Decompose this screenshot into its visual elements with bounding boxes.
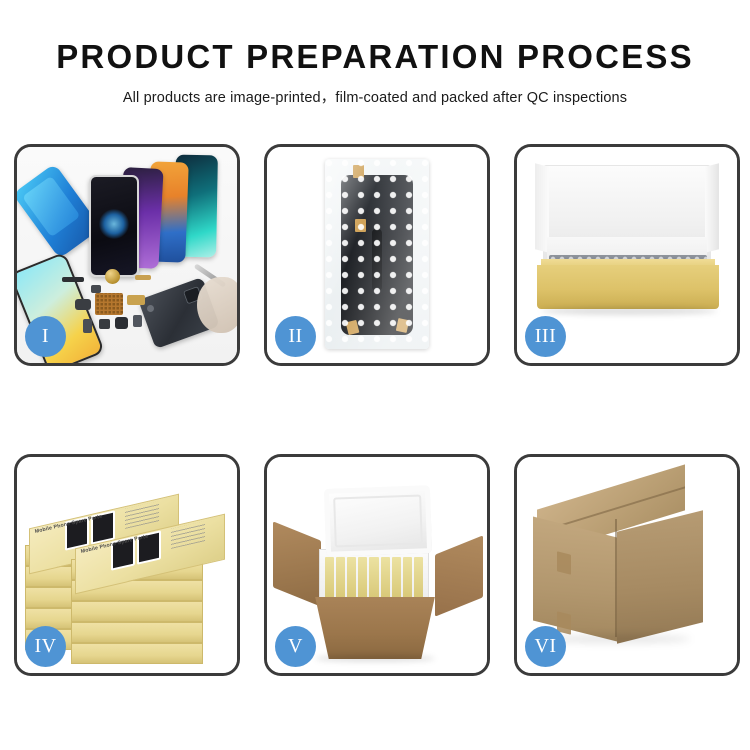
- process-step-panel-5: V: [264, 454, 490, 676]
- step-badge-1: I: [25, 316, 66, 357]
- process-step-panel-2: II: [264, 144, 490, 366]
- yellow-box-base-icon: [537, 265, 719, 309]
- part-vibrator-icon: [133, 315, 142, 327]
- part-sim-tray-icon: [83, 319, 92, 333]
- process-step-panel-1: I: [14, 144, 240, 366]
- stacked-box-edge: [71, 622, 203, 643]
- drop-shadow: [541, 307, 717, 315]
- bubble-wrap-bag-icon: [325, 159, 429, 349]
- copper-mesh-icon: [95, 293, 123, 315]
- step-numeral: I: [42, 325, 49, 348]
- part-speaker-icon: [115, 317, 128, 329]
- process-step-panel-6: VI: [514, 454, 740, 676]
- page-header: PRODUCT PREPARATION PROCESS All products…: [0, 0, 750, 107]
- step-numeral: V: [288, 635, 303, 658]
- part-connector-icon: [62, 277, 84, 282]
- carton-front-panel-icon: [307, 597, 443, 659]
- step-badge-3: III: [525, 316, 566, 357]
- part-screw-icon: [147, 305, 154, 312]
- page-subtitle: All products are image-printed，film-coat…: [0, 86, 750, 107]
- part-chip-icon: [99, 319, 110, 329]
- speaker-coil-icon: [105, 269, 120, 284]
- step-numeral: III: [535, 325, 556, 348]
- part-camera-module-icon: [75, 299, 91, 310]
- page-title: PRODUCT PREPARATION PROCESS: [0, 40, 750, 75]
- step-badge-4: IV: [25, 626, 66, 667]
- part-flex-cable-icon: [135, 275, 151, 280]
- part-gold-flex-icon: [127, 295, 145, 305]
- stacked-box-edge: [71, 601, 203, 622]
- process-step-panel-4: Mobile Phone Spare Parts Mobile Phone Sp…: [14, 454, 240, 676]
- product-preparation-process-page: PRODUCT PREPARATION PROCESS All products…: [0, 0, 750, 750]
- hand-icon: [197, 277, 237, 333]
- process-step-grid: I II: [14, 144, 736, 676]
- phone-dark-glass-icon: [89, 175, 139, 277]
- stacked-box-edge: [71, 643, 203, 664]
- plastic-sheen-icon: [325, 159, 429, 349]
- carton-left-face-icon: [533, 517, 617, 642]
- part-bracket-icon: [91, 285, 101, 293]
- step-numeral: II: [288, 325, 302, 348]
- step-badge-2: II: [275, 316, 316, 357]
- foam-lid-icon: [324, 485, 432, 557]
- drop-shadow: [545, 635, 691, 643]
- step-numeral: VI: [534, 635, 556, 658]
- carton-corner-seam-icon: [615, 519, 617, 637]
- drop-shadow: [315, 655, 435, 662]
- yellow-boxes-inside-icon: [325, 557, 423, 599]
- carton-right-face-icon: [617, 510, 703, 643]
- step-numeral: IV: [34, 635, 56, 658]
- carton-tape-icon: [557, 551, 571, 574]
- process-step-panel-3: III: [514, 144, 740, 366]
- step-badge-5: V: [275, 626, 316, 667]
- step-badge-6: VI: [525, 626, 566, 667]
